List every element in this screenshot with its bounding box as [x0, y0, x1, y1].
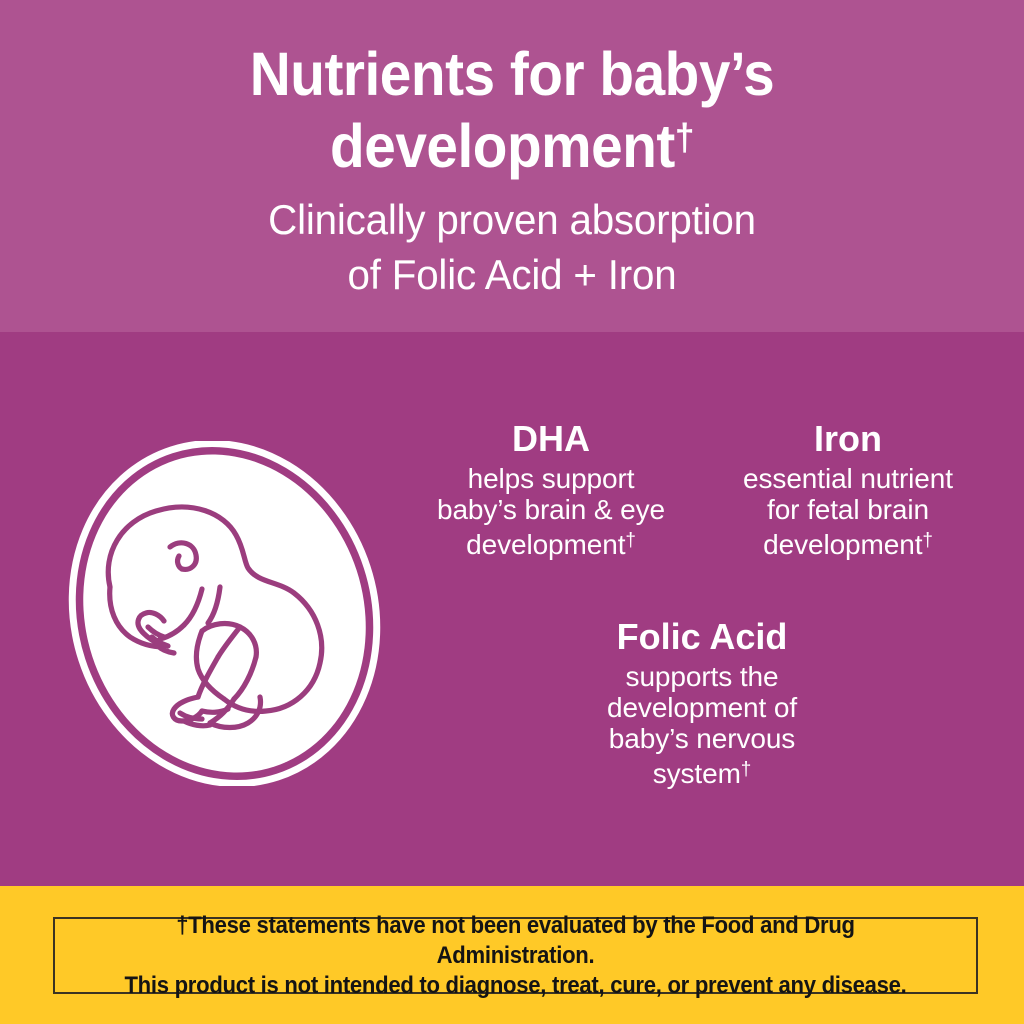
page-headline: Nutrients for baby’s development†	[36, 42, 988, 178]
nutrient-description-text-folic-acid: supports the development of baby’s nervo…	[607, 661, 797, 789]
page-subheadline: Clinically proven absorption of Folic Ac…	[20, 192, 1003, 302]
header-band: Nutrients for baby’s development† Clinic…	[0, 0, 1024, 332]
fetus-in-womb-icon	[52, 441, 397, 786]
nutrient-title-folic-acid: Folic Acid	[566, 616, 838, 658]
nutrient-title-dha: DHA	[420, 418, 682, 460]
disclaimer-text: †These statements have not been evaluate…	[92, 911, 939, 1001]
nutrient-dagger-iron: †	[922, 530, 932, 551]
nutrient-block-folic-acid: Folic Acid supports the development of b…	[566, 616, 838, 789]
nutrient-description-iron: essential nutrient for fetal brain devel…	[712, 463, 984, 560]
product-infographic: Nutrients for baby’s development† Clinic…	[0, 0, 1024, 1024]
nutrient-dagger-dha: †	[625, 530, 635, 551]
headline-text: Nutrients for baby’s development	[250, 40, 774, 180]
disclaimer-box: †These statements have not been evaluate…	[53, 917, 978, 994]
nutrient-block-iron: Iron essential nutrient for fetal brain …	[712, 418, 984, 560]
nutrient-block-dha: DHA helps support baby’s brain & eye dev…	[420, 418, 682, 560]
headline-dagger: †	[675, 117, 694, 159]
nutrient-dagger-folic-acid: †	[741, 759, 751, 780]
nutrient-description-folic-acid: supports the development of baby’s nervo…	[566, 661, 838, 789]
nutrient-title-iron: Iron	[712, 418, 984, 460]
nutrient-description-dha: helps support baby’s brain & eye develop…	[420, 463, 682, 560]
